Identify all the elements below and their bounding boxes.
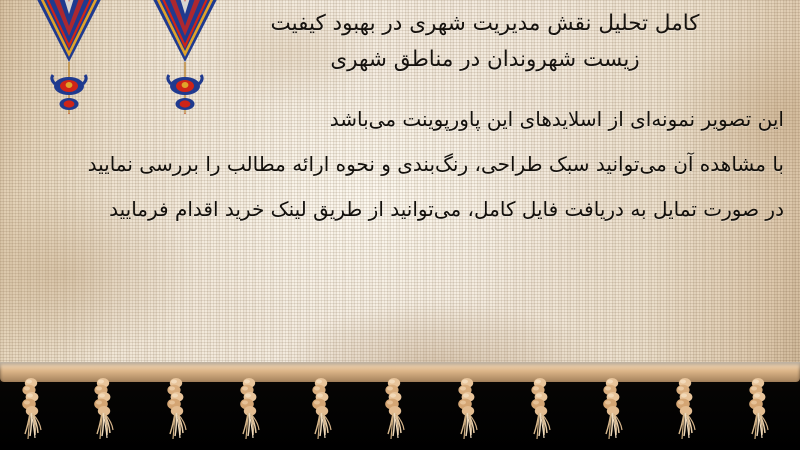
persian-medallion-ornament-left [22, 0, 116, 118]
medallion-pendant-icon [22, 0, 116, 114]
slide-canvas: کامل تحلیل نقش مدیریت شهری در بهبود کیفی… [0, 0, 800, 450]
fringe-tassel [90, 378, 116, 450]
fringe-tassel [308, 378, 334, 450]
fringe-tassel [527, 378, 553, 450]
slide-title: کامل تحلیل نقش مدیریت شهری در بهبود کیفی… [190, 6, 780, 78]
fringe-tassel [599, 378, 625, 450]
carpet-fringe-tassels [0, 368, 800, 450]
body-line-3: در صورت تمایل به دریافت فایل کامل، می‌تو… [9, 198, 784, 221]
fringe-tassel [745, 378, 771, 450]
fringe-tassel [18, 378, 44, 450]
slide-body: این تصویر نمونه‌ای از اسلایدهای این پاور… [9, 108, 784, 221]
fringe-tassel [672, 378, 698, 450]
fringe-tassel [163, 378, 189, 450]
fringe-tassel [236, 378, 262, 450]
fringe-tassel [381, 378, 407, 450]
fringe-tassel [454, 378, 480, 450]
body-line-1: این تصویر نمونه‌ای از اسلایدهای این پاور… [9, 108, 784, 131]
slide-title-line-1: کامل تحلیل نقش مدیریت شهری در بهبود کیفی… [190, 6, 780, 42]
slide-title-line-2: زیست شهروندان در مناطق شهری [190, 42, 780, 78]
body-line-2: با مشاهده آن می‌توانید سبک طراحی، رنگ‌بن… [9, 153, 784, 176]
